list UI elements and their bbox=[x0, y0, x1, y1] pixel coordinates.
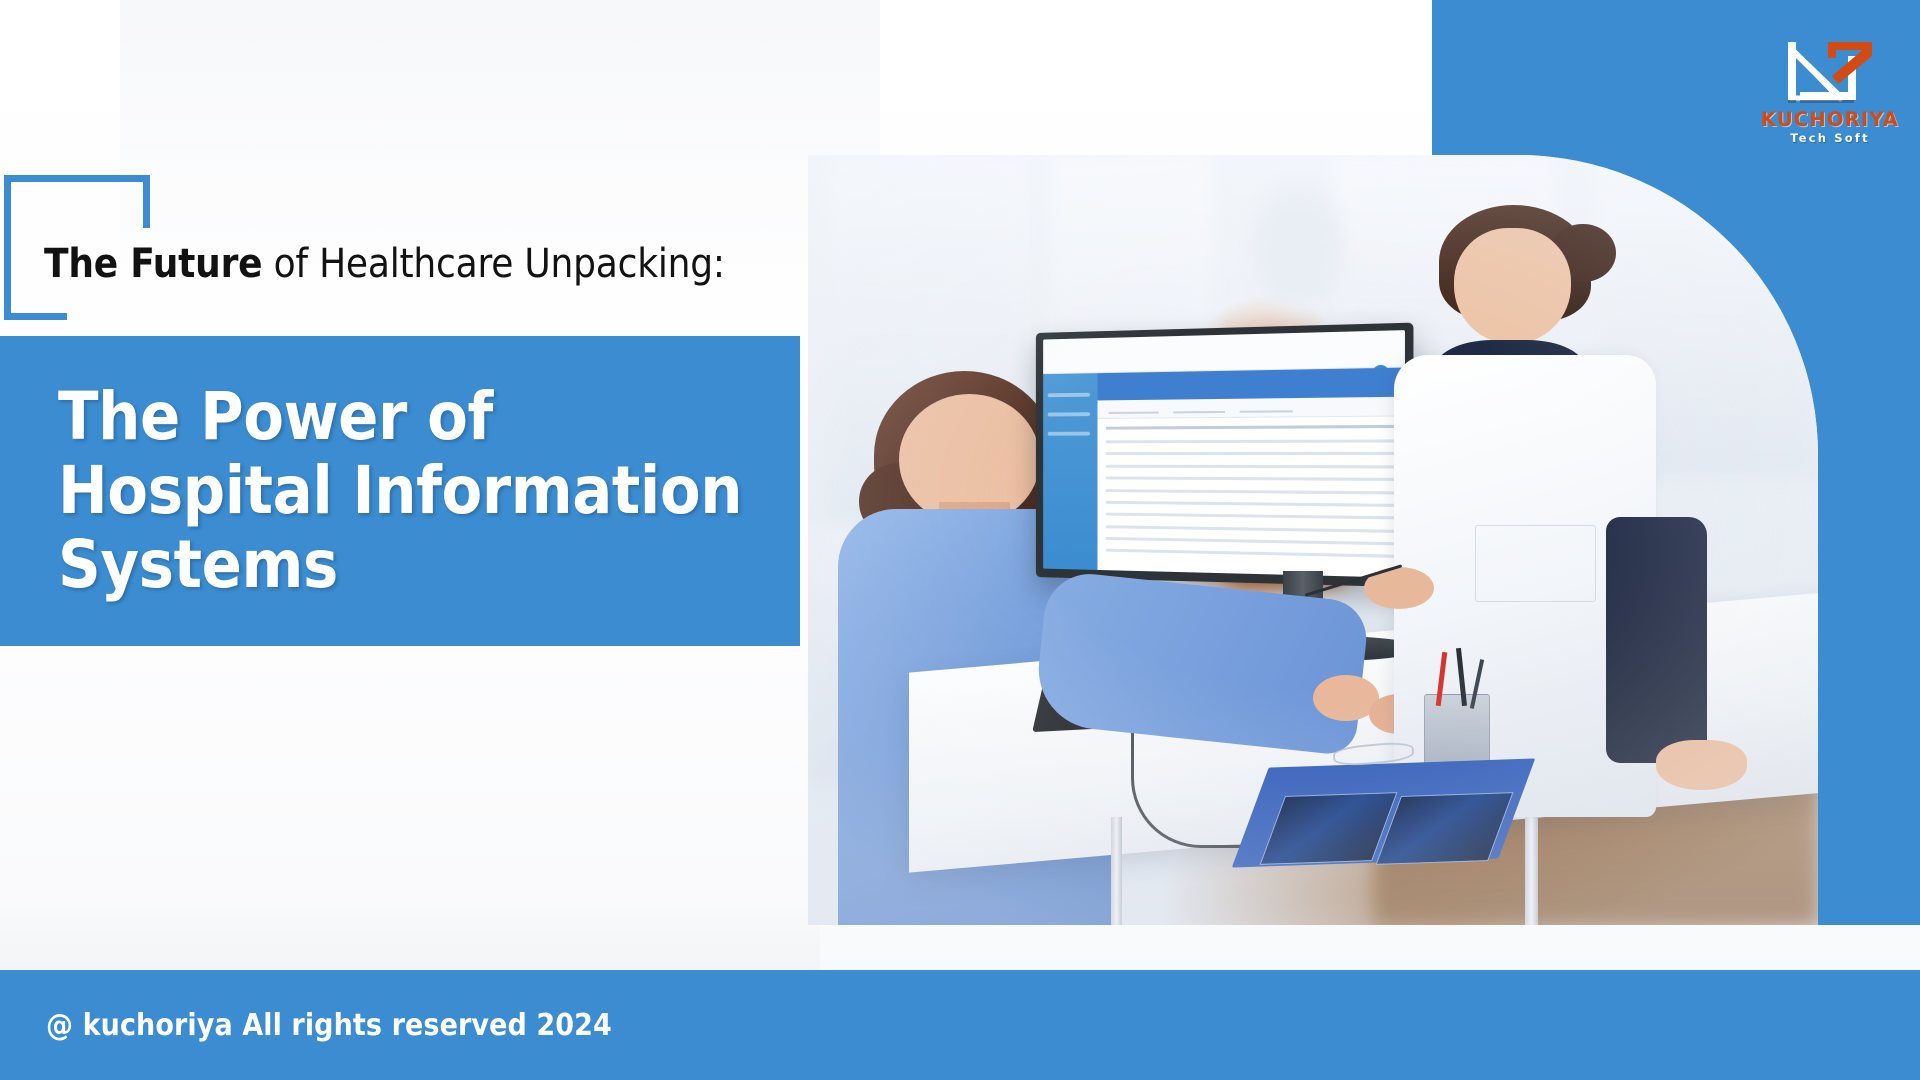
desk-leg-left bbox=[1111, 817, 1122, 925]
footer-bar: @ kuchoriya All rights reserved 2024 bbox=[0, 970, 1920, 1080]
logo-tagline: Tech Soft bbox=[1755, 133, 1905, 145]
doctor-head bbox=[1454, 228, 1570, 344]
hero-photo: Clinic Records bbox=[808, 155, 1818, 925]
kuchoriya-monogram-icon bbox=[1776, 36, 1884, 106]
headline-line-3: Systems bbox=[58, 528, 800, 602]
monitor-screen: Clinic Records bbox=[1043, 330, 1405, 578]
app-sidebar bbox=[1043, 373, 1097, 570]
logo-brand-name: KUCHORIYA bbox=[1755, 110, 1905, 130]
copyright-text: @ kuchoriya All rights reserved 2024 bbox=[46, 1008, 612, 1043]
headline-line-2: Hospital Information bbox=[58, 454, 800, 528]
app-ribbon-bar bbox=[1097, 368, 1404, 401]
kicker-light: of Healthcare Unpacking: bbox=[262, 241, 725, 287]
headline-line-1: The Power of bbox=[58, 380, 800, 454]
promo-banner: Clinic Records bbox=[0, 0, 1920, 1080]
app-records-table bbox=[1097, 417, 1404, 578]
banner-kicker: The Future of Healthcare Unpacking: bbox=[44, 242, 725, 287]
desk-leg-right bbox=[1525, 817, 1538, 925]
app-tab-strip bbox=[1097, 397, 1404, 419]
exam-lamp bbox=[1252, 186, 1343, 309]
photo-scene: Clinic Records bbox=[808, 155, 1818, 925]
desktop-monitor: Clinic Records bbox=[1036, 323, 1413, 588]
headline-block: The Power of Hospital Information System… bbox=[0, 336, 800, 646]
doctor-coat-pocket bbox=[1475, 525, 1596, 602]
brand-logo[interactable]: KUCHORIYA Tech Soft bbox=[1755, 36, 1905, 148]
doctor-hand-desk bbox=[1656, 740, 1747, 790]
doctor-navy-sleeve bbox=[1606, 517, 1707, 763]
kicker-strong: The Future bbox=[44, 241, 262, 287]
background-ghost-bottom bbox=[0, 900, 820, 972]
